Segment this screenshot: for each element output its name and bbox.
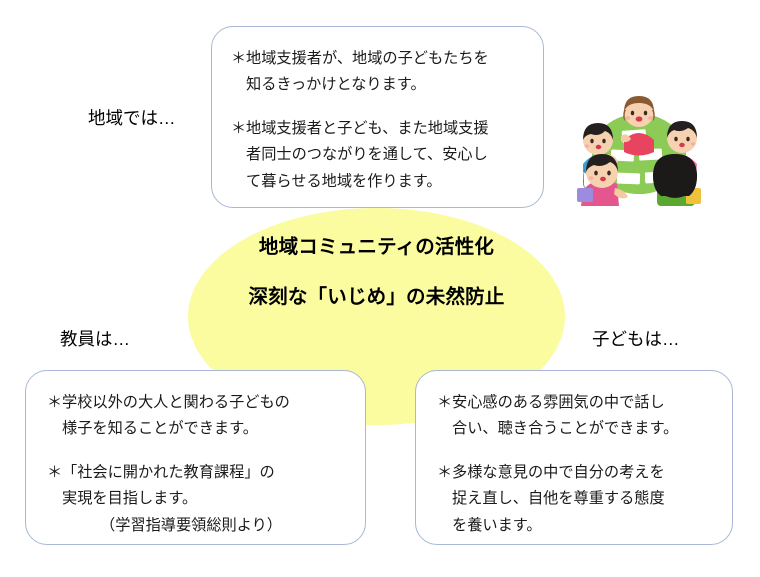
label-community: 地域では… [88,105,176,130]
box-teacher-item-2: ＊「社会に開かれた教育課程」の [47,460,355,486]
bullet-mark: ＊ [47,460,62,486]
box-children-item-1-line-1: 安心感のある雰囲気の中で話し [452,394,665,411]
box-teacher-item-2-note: （学習指導要領総則より） [47,513,355,539]
bullet-mark: ＊ [231,116,246,142]
bullet-mark: ＊ [437,460,452,486]
box-community-item-1-cont: 知るきっかけとなります。 [231,72,529,98]
box-children-item-2-line-2: 捉え直し、自他を尊重する態度 [452,490,665,507]
center-headline-line-1: 地域コミュニティの活性化 [188,236,565,259]
box-children-item-2-cont-b: を養います。 [437,513,722,539]
box-community-item-1-line-2: 知るきっかけとなります。 [246,76,426,93]
box-teacher-item-1: ＊学校以外の大人と関わる子どもの [47,390,355,416]
box-community: ＊地域支援者が、地域の子どもたちを 知るきっかけとなります。 ＊地域支援者と子ど… [211,26,544,208]
label-teacher: 教員は… [60,326,130,351]
box-teacher-note-text: （学習指導要領総則より） [100,517,282,534]
children-group-discussion-illustration [575,88,705,206]
box-children-item-2-line-3: を養います。 [452,517,542,534]
box-children-item-1-cont: 合い、聴き合うことができます。 [437,416,722,442]
box-children-item-1: ＊安心感のある雰囲気の中で話し [437,390,722,416]
box-teacher-item-2-cont: 実現を目指します。 [47,486,355,512]
box-teacher: ＊学校以外の大人と関わる子どもの 様子を知ることができます。 ＊「社会に開かれた… [25,370,366,545]
box-teacher-item-2-line-2: 実現を目指します。 [62,490,197,507]
box-children: ＊安心感のある雰囲気の中で話し 合い、聴き合うことができます。 ＊多様な意見の中… [415,370,733,545]
box-teacher-item-1-cont: 様子を知ることができます。 [47,416,355,442]
box-community-item-2-cont-a: 者同士のつながりを通して、安心し [231,142,529,168]
box-community-item-2-cont-b: て暮らせる地域を作ります。 [231,169,529,195]
box-teacher-item-2-line-1: 「社会に開かれた教育課程」の [62,464,275,481]
box-children-item-1-line-2: 合い、聴き合うことができます。 [452,420,678,437]
center-headline: 地域コミュニティの活性化 深刻な「いじめ」の未然防止 [188,236,565,310]
box-children-item-2-cont-a: 捉え直し、自他を尊重する態度 [437,486,722,512]
box-community-item-2-line-2: 者同士のつながりを通して、安心し [246,146,488,163]
bullet-mark: ＊ [437,390,452,416]
box-children-item-2-line-1: 多様な意見の中で自分の考えを [452,464,665,481]
center-headline-line-2: 深刻な「いじめ」の未然防止 [188,286,565,309]
bullet-mark: ＊ [47,390,62,416]
box-teacher-item-1-line-1: 学校以外の大人と関わる子どもの [62,394,290,411]
box-community-item-2-line-3: て暮らせる地域を作ります。 [246,173,442,190]
bullet-mark: ＊ [231,46,246,72]
box-community-item-2: ＊地域支援者と子ども、また地域支援 [231,116,529,142]
diagram-canvas: ＊地域支援者が、地域の子どもたちを 知るきっかけとなります。 ＊地域支援者と子ど… [0,0,760,577]
box-community-item-1-line-1: 地域支援者が、地域の子どもたちを [246,50,489,67]
box-community-item-1: ＊地域支援者が、地域の子どもたちを [231,46,529,72]
label-children: 子どもは… [592,326,680,351]
box-children-item-2: ＊多様な意見の中で自分の考えを [437,460,722,486]
box-teacher-item-1-line-2: 様子を知ることができます。 [62,420,258,437]
box-community-item-2-line-1: 地域支援者と子ども、また地域支援 [246,120,489,137]
